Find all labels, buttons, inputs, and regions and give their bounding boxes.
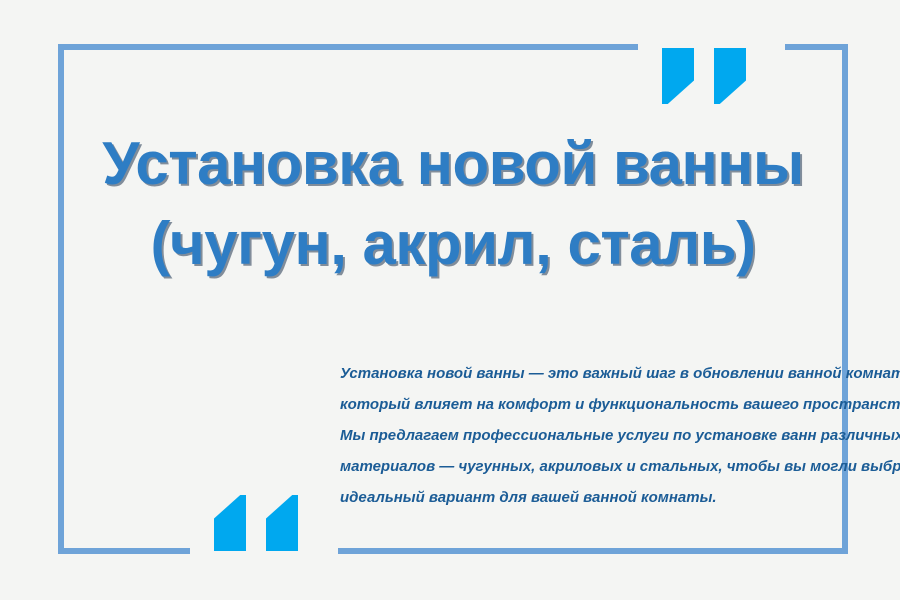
page-title: Установка новой ванны (чугун, акрил, ста… — [64, 124, 842, 284]
page-title-line-2: (чугун, акрил, сталь) — [64, 204, 842, 284]
frame-border-bottom-segment-2 — [338, 548, 848, 554]
frame-border-top-segment-1 — [58, 44, 638, 50]
body-paragraph: Установка новой ванны — это важный шаг в… — [340, 358, 840, 513]
frame-border-top-segment-2 — [785, 44, 848, 50]
frame-border-left — [58, 44, 64, 554]
body-paragraph-line: идеальный вариант для вашей ванной комна… — [340, 482, 840, 513]
opening-quote-icon-2 — [266, 495, 298, 551]
frame-border-right — [842, 44, 848, 554]
body-paragraph-line: Мы предлагаем профессиональные услуги по… — [340, 420, 840, 451]
closing-quote-icon-group — [662, 48, 746, 104]
closing-quote-icon-1 — [662, 48, 694, 104]
opening-quote-icon-group — [214, 495, 298, 551]
slide-canvas: Установка новой ванны (чугун, акрил, ста… — [0, 0, 900, 600]
body-paragraph-line: материалов — чугунных, акриловых и сталь… — [340, 451, 840, 482]
closing-quote-icon-2 — [714, 48, 746, 104]
opening-quote-icon-1 — [214, 495, 246, 551]
body-paragraph-line: который влияет на комфорт и функциональн… — [340, 389, 840, 420]
frame-border-bottom-segment-1 — [58, 548, 190, 554]
page-title-line-1: Установка новой ванны — [64, 124, 842, 204]
body-paragraph-line: Установка новой ванны — это важный шаг в… — [340, 358, 840, 389]
